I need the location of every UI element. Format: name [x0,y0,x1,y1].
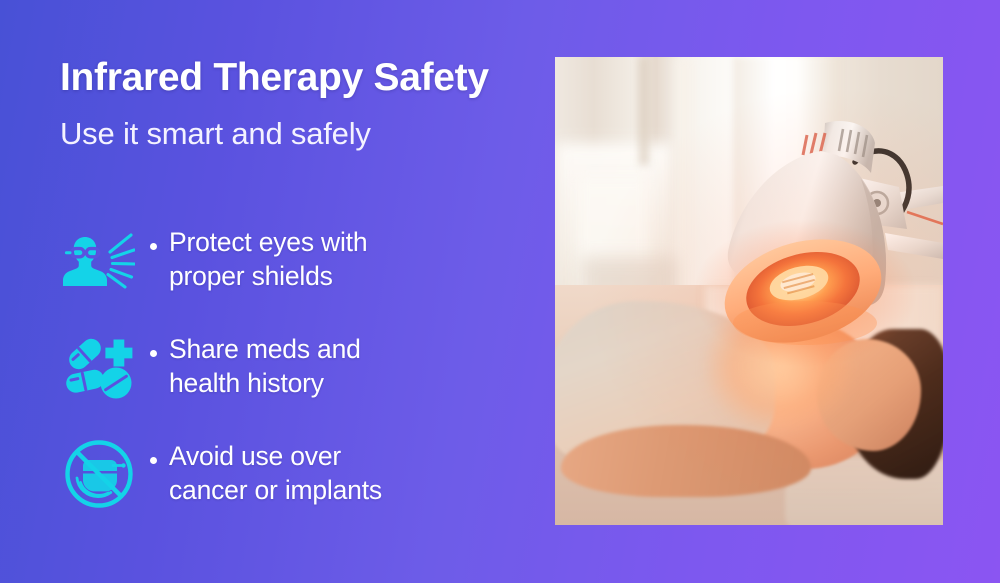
bullet-content: Avoid use over cancer or implants [150,440,382,508]
list-item-label: Avoid use over cancer or implants [169,440,382,508]
therapy-photo [555,57,943,525]
list-item: Share meds and health history [60,313,535,420]
bullet-marker [150,350,157,357]
page-title: Infrared Therapy Safety [60,58,530,99]
bullet-content: Protect eyes with proper shields [150,226,367,294]
bullet-marker [150,243,157,250]
bullet-marker [150,457,157,464]
bullet-list: Protect eyes with proper shields [60,206,535,527]
text-column: Infrared Therapy Safety Use it smart and… [60,58,530,151]
person-safety-goggles-icon [60,221,138,299]
bullet-content: Share meds and health history [150,333,361,401]
infrared-lamp [555,57,943,525]
list-item-label: Share meds and health history [169,333,361,401]
page-subtitle: Use it smart and safely [60,117,530,151]
slide-canvas: Infrared Therapy Safety Use it smart and… [0,0,1000,583]
list-item-label: Protect eyes with proper shields [169,226,367,294]
pills-medical-cross-icon [60,328,138,406]
photo-content [555,57,943,525]
list-item: Avoid use over cancer or implants [60,420,535,527]
no-implant-prohibited-icon [60,435,138,513]
list-item: Protect eyes with proper shields [60,206,535,313]
